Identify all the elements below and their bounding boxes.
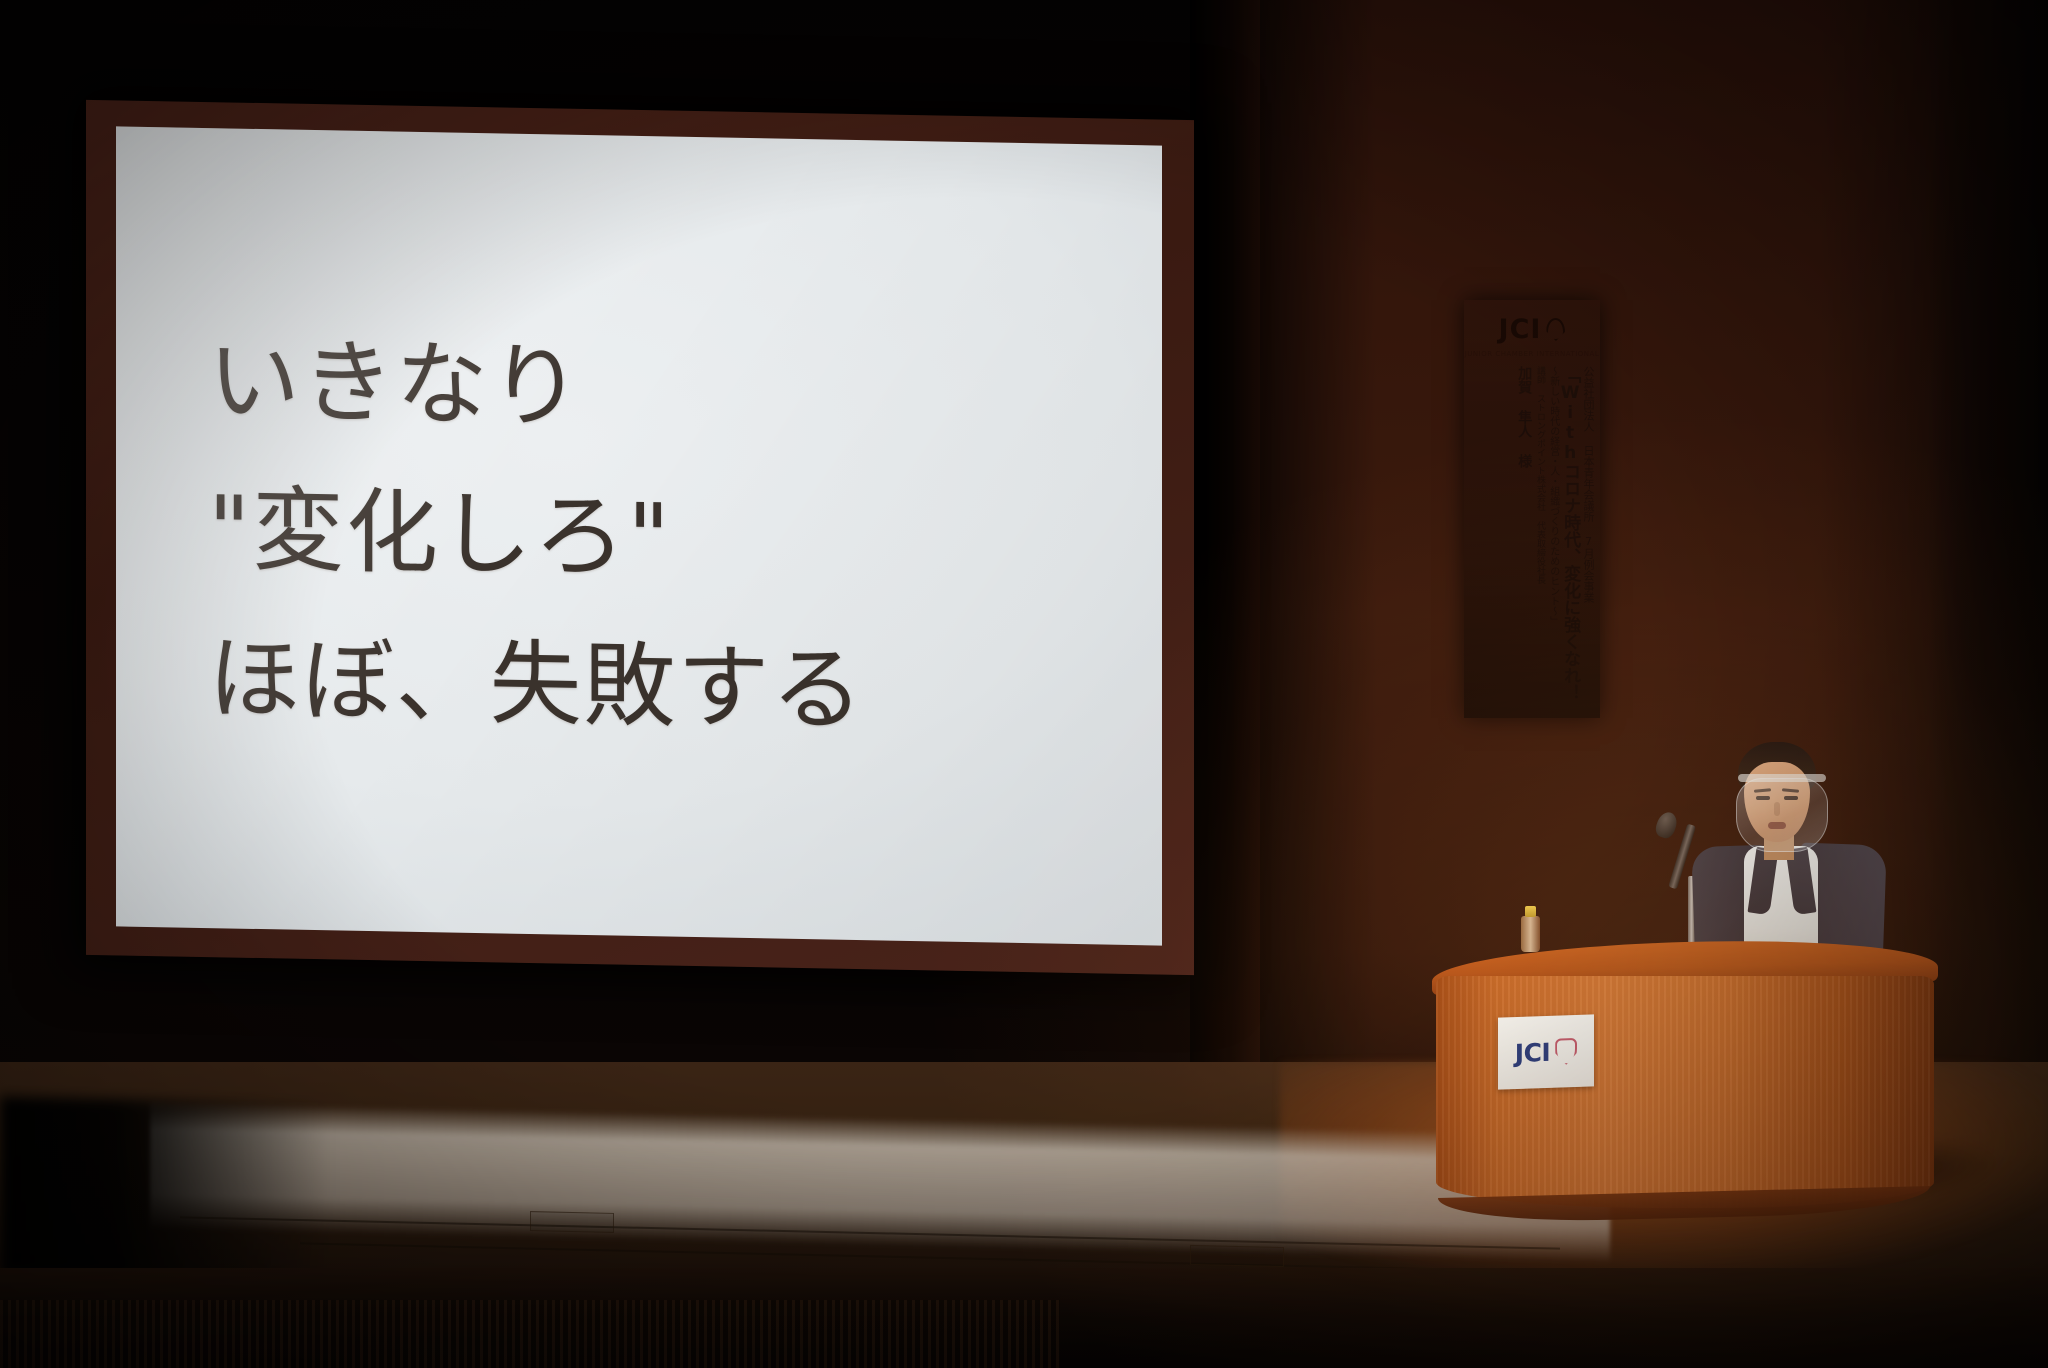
face-shield-headband [1738, 774, 1826, 782]
wall-right-edge-shadow [1928, 0, 2048, 1140]
banner-line: 「Withコロナ時代、変化に強くなれ！ [1561, 366, 1579, 714]
banner-line: 加賀 隼人 様 [1516, 366, 1531, 714]
banner-text-block: 公益社団法人 日本青年会議所 7月例会事業 「Withコロナ時代、変化に強くなれ… [1470, 366, 1594, 714]
slide-text: いきなり "変化しろ" ほぼ、失敗する [208, 306, 1122, 770]
banner-logo-text: JCI [1499, 314, 1542, 345]
podium-jci-text: JCI [1515, 1037, 1550, 1067]
jci-shield-pin-icon [1555, 1037, 1577, 1065]
banner-logo: JCI [1464, 314, 1600, 345]
banner-line: ～新しい時代の経営・人・組織づくりのためのヒント～」 [1547, 366, 1558, 714]
wall-column-shadow [1190, 0, 1260, 1110]
floor-trap-panel [530, 1211, 614, 1233]
banner-logo-subtitle: JUNIOR CHAMBER INTERNATIONAL [1464, 350, 1600, 358]
floor-trap-panel [1190, 1245, 1284, 1267]
projection-screen: いきなり "変化しろ" ほぼ、失敗する [116, 126, 1162, 945]
stage-photo: いきなり "変化しろ" ほぼ、失敗する JCI JUNIOR CHAMBER I… [0, 0, 2048, 1368]
orchestra-pit-rail [0, 1300, 1060, 1368]
podium: JCI [1432, 942, 1938, 1232]
face-shield-icon [1736, 778, 1828, 852]
banner-line: 公益社団法人 日本青年会議所 7月例会事業 [1582, 366, 1594, 714]
podium-nameplate: JCI [1498, 1014, 1594, 1089]
podium-body [1436, 976, 1934, 1208]
projection-screen-frame: いきなり "変化しろ" ほぼ、失敗する [86, 100, 1194, 975]
stage-floor-shadow-left [0, 1096, 330, 1283]
banner-line: 講師 ストロングポイント株式会社 代表取締役社長 [1534, 366, 1544, 714]
jci-shield-pin-icon [1546, 318, 1565, 341]
bottle-cap [1525, 906, 1536, 917]
wall-banner: JCI JUNIOR CHAMBER INTERNATIONAL 公益社団法人 … [1464, 300, 1600, 718]
